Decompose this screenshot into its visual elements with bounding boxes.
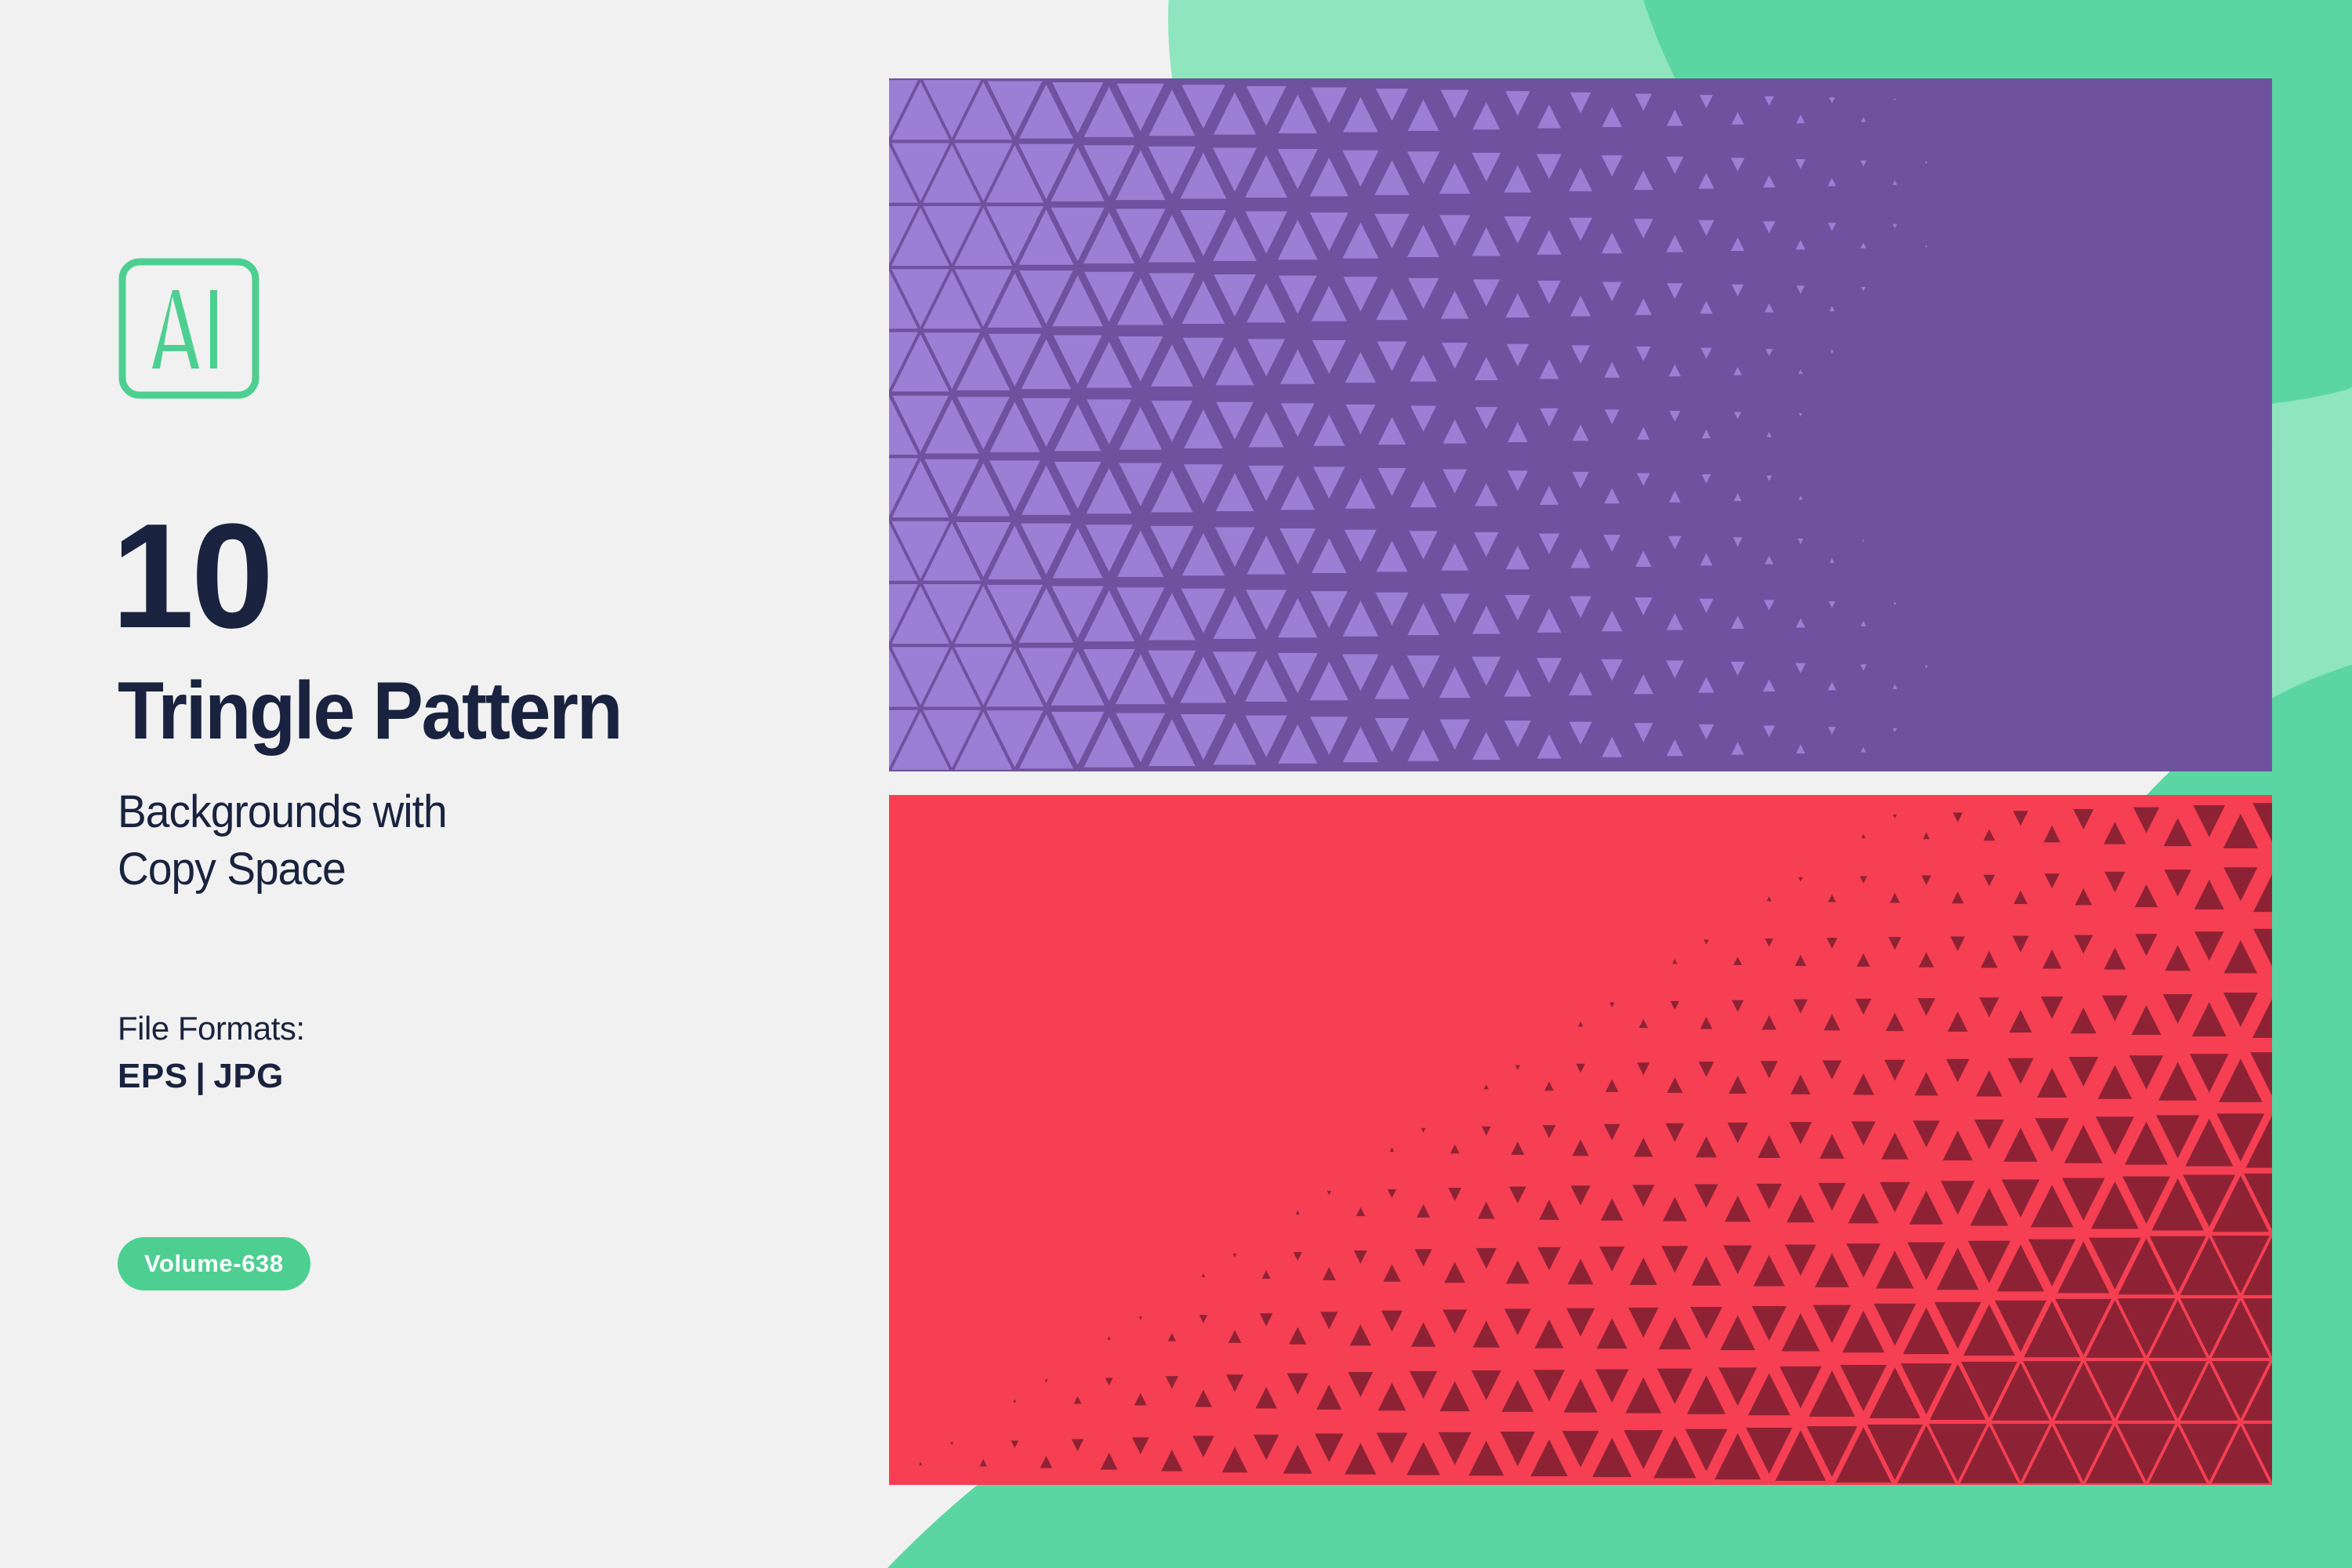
volume-badge: Volume-638: [118, 1237, 310, 1290]
file-formats-value: EPS|JPG: [118, 1057, 284, 1096]
preview-red-pattern: [889, 795, 2272, 1485]
preview-purple-pattern: [889, 78, 2272, 771]
file-format-eps: EPS: [118, 1057, 188, 1095]
ai-format-icon: [118, 257, 260, 400]
page-subtitle-line-1: Backgrounds with: [118, 784, 447, 841]
purple-pattern-artwork: [889, 78, 2272, 771]
file-format-jpg: JPG: [213, 1057, 284, 1095]
info-column: 10 Tringle Pattern Backgrounds with Copy…: [118, 0, 886, 1568]
page-title: Tringle Pattern: [118, 670, 621, 752]
page-subtitle-line-2: Copy Space: [118, 841, 447, 898]
page-subtitle: Backgrounds with Copy Space: [118, 784, 447, 898]
file-formats-label: File Formats:: [118, 1010, 305, 1047]
red-pattern-artwork: [889, 795, 2272, 1485]
page-title-count: 10: [111, 502, 270, 651]
poster-canvas: 10 Tringle Pattern Backgrounds with Copy…: [0, 0, 2352, 1568]
file-format-separator: |: [188, 1057, 214, 1095]
